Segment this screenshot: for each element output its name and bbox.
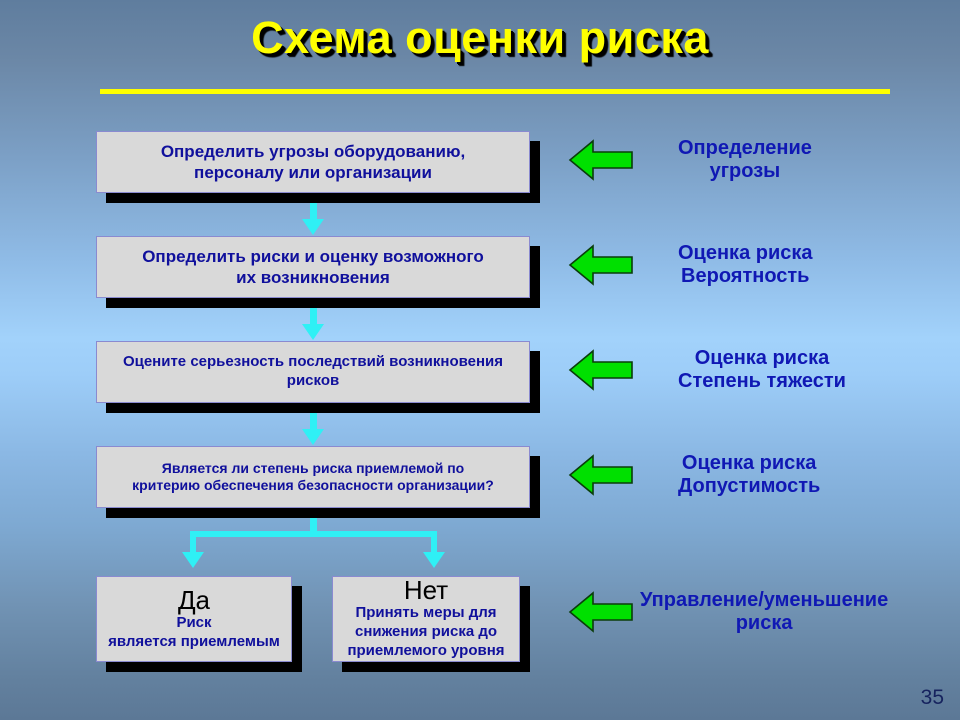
process-box-assess-severity[interactable]: Оцените серьезность последствий возникно… — [96, 341, 530, 403]
connector-arrow-head-icon — [302, 219, 324, 235]
stage-label-line: Допустимость — [678, 475, 820, 498]
process-box-line: Определить угрозы оборудованию, — [161, 141, 465, 162]
connector-arrow-head-icon — [302, 324, 324, 340]
slide-canvas: Схема оценки риска Определить угрозы обо… — [0, 0, 960, 720]
outcome-heading-yes: Да — [178, 587, 210, 613]
outcome-heading-no: Нет — [404, 577, 448, 603]
branch-connector-bar — [190, 531, 437, 537]
left-arrow-icon — [568, 589, 634, 635]
process-box-line: Определить риски и оценку возможного — [142, 246, 484, 267]
decision-box-is-risk-acceptable[interactable]: Является ли степень риска приемлемой по … — [96, 446, 530, 508]
stage-label: Оценка риска Вероятность — [678, 242, 813, 288]
stage-label-line: Степень тяжести — [678, 370, 846, 393]
stage-label-line: Оценка риска — [678, 347, 846, 370]
decision-box-line: критерию обеспечения безопасности органи… — [132, 477, 494, 495]
process-box-line: Оцените серьезность последствий возникно… — [123, 353, 503, 372]
outcome-box-line: приемлемого уровня — [347, 642, 504, 661]
stage-label-line: риска — [640, 612, 888, 635]
stage-label-line: Определение — [678, 137, 812, 160]
page-number: 35 — [921, 686, 944, 710]
stage-label-line: Оценка риска — [678, 242, 813, 265]
outcome-box-yes[interactable]: Да Риск является приемлемым — [96, 576, 292, 662]
left-arrow-icon — [568, 137, 634, 183]
connector-arrow-head-icon — [302, 429, 324, 445]
stage-label-line: Управление/уменьшение — [640, 589, 888, 612]
outcome-box-no[interactable]: Нет Принять меры для снижения риска до п… — [332, 576, 520, 662]
process-box-line: персоналу или организации — [194, 162, 432, 183]
title-block: Схема оценки риска — [0, 12, 960, 64]
stage-label-line: угрозы — [678, 160, 812, 183]
stage-risk-assessment-severity[interactable]: Оценка риска Степень тяжести — [568, 347, 846, 393]
stage-risk-assessment-probability[interactable]: Оценка риска Вероятность — [568, 242, 813, 288]
outcome-box-line: является приемлемым — [108, 633, 280, 652]
branch-arrow-head-right-icon — [423, 552, 445, 568]
outcome-box-line: снижения риска до — [355, 623, 497, 642]
stage-label: Оценка риска Допустимость — [678, 452, 820, 498]
title-divider-rule — [100, 89, 890, 94]
stage-label-line: Вероятность — [678, 265, 813, 288]
stage-label: Оценка риска Степень тяжести — [678, 347, 846, 393]
process-box-line: рисков — [287, 372, 339, 391]
stage-label-line: Оценка риска — [678, 452, 820, 475]
stage-threat-definition[interactable]: Определение угрозы — [568, 137, 812, 183]
stage-label: Определение угрозы — [678, 137, 812, 183]
stage-risk-assessment-acceptability[interactable]: Оценка риска Допустимость — [568, 452, 820, 498]
left-arrow-icon — [568, 452, 634, 498]
process-box-identify-threats[interactable]: Определить угрозы оборудованию, персонал… — [96, 131, 530, 193]
stage-label: Управление/уменьшение риска — [640, 589, 888, 635]
outcome-box-line: Риск — [176, 614, 211, 633]
left-arrow-icon — [568, 347, 634, 393]
branch-arrow-head-left-icon — [182, 552, 204, 568]
decision-box-line: Является ли степень риска приемлемой по — [162, 460, 464, 478]
process-box-line: их возникновения — [236, 267, 390, 288]
process-box-identify-risks[interactable]: Определить риски и оценку возможного их … — [96, 236, 530, 298]
page-title: Схема оценки риска — [251, 12, 709, 64]
stage-risk-management-reduction[interactable]: Управление/уменьшение риска — [568, 589, 888, 635]
outcome-box-line: Принять меры для — [355, 604, 496, 623]
left-arrow-icon — [568, 242, 634, 288]
